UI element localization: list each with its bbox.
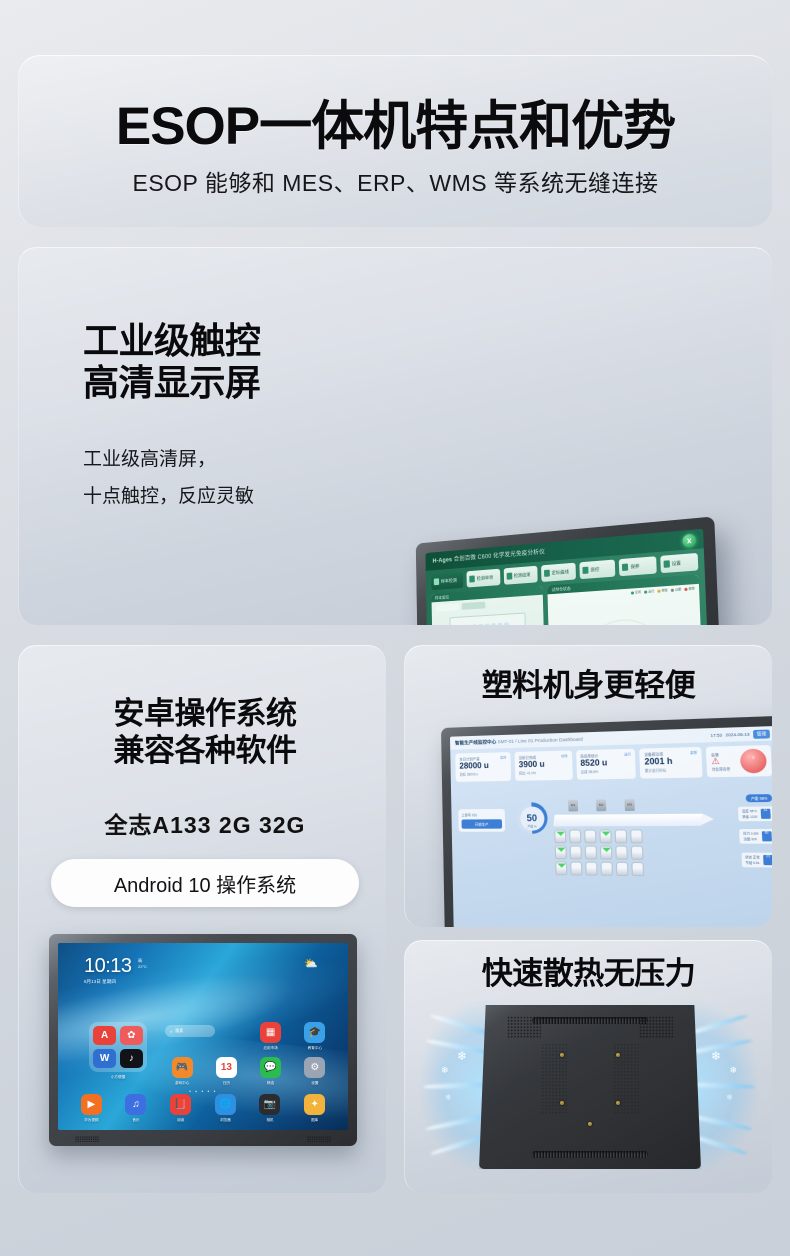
touchscreen-heading-line1: 工业级触控: [83, 320, 261, 362]
android-spec: 全志A133 2G 32G: [55, 806, 355, 840]
folder-app-icon[interactable]: ♪: [120, 1049, 143, 1068]
hmi-tab-6[interactable]: 设置: [660, 553, 698, 573]
hmi-reagent-panel: 试剂仓状态 空闲运行预警过期报警 三项检查 其它功能: [548, 575, 705, 625]
app-icon-appstore[interactable]: ▦ 应用市场: [251, 1022, 291, 1051]
test-tube: [478, 624, 483, 625]
kpi-card: 运行 良品率统计 8520 u 达成 98.6%: [576, 749, 637, 780]
vent-slot-bottom: [532, 1151, 647, 1158]
legend-swatch: [644, 590, 647, 593]
hmi-tab-5[interactable]: 保养: [619, 556, 656, 576]
tank-unit: [615, 829, 628, 843]
belt-box: M3: [624, 799, 634, 811]
lockscreen-clock: 10:13 晴 22°C 6月13日 星期四: [84, 956, 132, 985]
app-dock: ▶ 华为视频 ♫ 音乐 📕 阅读 🌐 浏览器 📷 相机: [71, 1094, 335, 1123]
vesa-screw: [616, 1101, 620, 1105]
tab-icon: [506, 573, 512, 580]
mes-title: 智能生产线监控中心: [455, 739, 496, 745]
test-tube: [491, 623, 496, 625]
alarm-bubble[interactable]: 3: [740, 748, 767, 773]
page-title: ESOP一体机特点和优势: [19, 84, 772, 160]
tab-icon: [663, 560, 669, 568]
kpi-tag: 运行: [624, 752, 631, 756]
app-glyph: 13: [216, 1057, 237, 1078]
hmi-tab-3[interactable]: 定标曲线: [541, 563, 576, 582]
tank-unit: [600, 862, 613, 876]
speaker-grille-right: [307, 1136, 331, 1142]
mes-time: 17:53: [710, 732, 722, 738]
mes-mini-panel: 压力 0.6M流量 320 B2: [740, 829, 772, 844]
hmi-app: H-Ages 合创百微 C600 化学发光免疫分析仪 x 样本检测 检测单项 检…: [425, 529, 712, 625]
mini-badge: A1: [761, 809, 771, 819]
app-glyph: ♫: [125, 1094, 146, 1115]
sample-tab-b[interactable]: [462, 602, 486, 610]
hmi-tab-4[interactable]: 质控: [579, 559, 615, 579]
tank-unit: [585, 845, 597, 859]
hmi-tab-label: 定标曲线: [551, 569, 568, 576]
tank-unit: [554, 829, 566, 843]
speaker-grille-left: [75, 1136, 99, 1142]
legend-swatch: [657, 589, 660, 592]
app-glyph: ⚙: [304, 1057, 325, 1078]
clock-time: 10:13: [84, 956, 132, 976]
page-subtitle: ESOP 能够和 MES、ERP、WMS 等系统无缝连接: [19, 164, 772, 198]
touchscreen-body-line1: 工业级高清屏，: [83, 441, 254, 478]
capacity-pill: 产能 98%: [746, 794, 772, 802]
app-label: 相机: [250, 1118, 291, 1123]
app-glyph: 🎓: [304, 1022, 325, 1043]
tank-unit: [570, 861, 582, 875]
hmi-sample-panel: 样本架位 S01: [431, 586, 547, 625]
mes-dashboard: 智能生产线监控中心 SMT-01 / Line 01 Production Da…: [450, 726, 772, 927]
tank-unit: [600, 846, 613, 860]
app-label: 畅连: [251, 1081, 291, 1086]
mes-order-panel: 工单号 001 开始生产: [458, 809, 505, 832]
start-production-button[interactable]: 开始生产: [462, 819, 503, 828]
touchscreen-body: 工业级高清屏， 十点触控，反应灵敏: [83, 441, 254, 515]
legend-item: 过期: [671, 587, 682, 592]
snowflake-icon: ❄: [457, 1049, 467, 1063]
sample-panel-tabs: [436, 602, 485, 612]
monitor-rear-panel: [479, 1005, 701, 1169]
android-heading: 安卓操作系统 兼容各种软件: [55, 696, 355, 769]
hmi-tab-label: 保养: [630, 563, 639, 570]
belt-box: M2: [596, 799, 606, 811]
legend-swatch: [631, 591, 634, 594]
mes-tablet-bezel: 智能生产线监控中心 SMT-01 / Line 01 Production Da…: [441, 716, 772, 927]
mini-line2: 转速 1200: [742, 814, 757, 819]
app-icon-education[interactable]: 🎓 教育中心: [295, 1022, 335, 1051]
tab-icon: [544, 570, 550, 577]
app-glyph: 🎮: [172, 1057, 193, 1078]
app-icon-gallery[interactable]: ✦ 图库: [294, 1094, 335, 1123]
tab-icon: [434, 578, 439, 585]
sample-panel-title: 样本架位: [435, 595, 449, 602]
mini-line2: 节拍 5.8s: [745, 860, 759, 865]
belt-box: M1: [568, 800, 578, 812]
tank-unit: [569, 829, 581, 843]
android-home-screen: 10:13 晴 22°C 6月13日 星期四 ⛅ A ✿ W ♪ 小方便捷 ⌕ …: [58, 943, 348, 1130]
legend-item: 空闲: [631, 590, 641, 595]
tank-unit: [584, 829, 596, 843]
kpi-sub: 同比 +6.0%: [519, 769, 568, 775]
hmi-logo-model: C600 化学发光免疫分析仪: [478, 549, 545, 560]
app-glyph: 📕: [170, 1094, 191, 1115]
snowflake-icon: ❄: [729, 1065, 737, 1076]
app-glyph: 💬: [260, 1057, 281, 1078]
clock-weather: 晴 22°C: [138, 958, 147, 970]
tab-icon: [583, 567, 589, 574]
app-icon-settings[interactable]: ⚙ 设置: [295, 1057, 335, 1086]
mes-subtitle: SMT-01 / Line 01 Production Dashboard: [498, 736, 583, 744]
android-version-badge: Android 10 操作系统: [51, 859, 359, 907]
hex-grille-left: [507, 1016, 541, 1038]
snowflake-icon: ❄: [441, 1065, 449, 1076]
alarm-sub: 待处理告警: [712, 766, 731, 772]
folder-app-icon[interactable]: ✿: [120, 1026, 143, 1045]
legend-swatch: [671, 588, 674, 591]
hmi-logo: H-Ages 合创百微 C600 化学发光免疫分析仪: [432, 547, 545, 565]
snowflake-icon: ❄: [726, 1093, 733, 1102]
app-icon-calendar[interactable]: 13 日历: [206, 1057, 246, 1086]
order-label: 工单号 001: [461, 812, 501, 817]
app-folder-grid: A ✿ W ♪: [89, 1022, 147, 1072]
snowflake-icon: ❄: [711, 1049, 721, 1063]
mes-mini-panel: 状态 正常节拍 5.8s C3: [741, 853, 772, 868]
kpi-sub: 达成 98.6%: [581, 768, 632, 774]
app-glyph: 📷: [259, 1094, 280, 1115]
mini-badge: B2: [762, 831, 772, 841]
tab-icon: [622, 563, 628, 571]
android-heading-line1: 安卓操作系统: [55, 696, 355, 733]
app-icon-browser[interactable]: 🌐 浏览器: [205, 1094, 246, 1123]
legend-item: 运行: [644, 589, 654, 594]
app-label: 教育中心: [295, 1046, 335, 1051]
tank-unit: [599, 829, 612, 843]
kpi-sub: 累计运行时长: [645, 766, 698, 773]
app-icon-games[interactable]: 🎮 游戏中心: [162, 1057, 202, 1086]
legend-label: 过期: [675, 587, 681, 592]
legend-label: 预警: [661, 588, 667, 593]
gauge-label: 产能 %: [527, 824, 536, 828]
app-glyph: ✦: [304, 1094, 325, 1115]
touchscreen-heading-line2: 高清显示屏: [83, 362, 261, 404]
close-icon[interactable]: x: [682, 533, 696, 547]
legend-label: 空闲: [635, 590, 641, 594]
hmi-logo-brand: H-Ages: [433, 557, 453, 564]
machine-tank-grid: [554, 829, 641, 876]
vesa-screw-center: [588, 1122, 592, 1126]
app-glyph: 🌐: [215, 1094, 236, 1115]
tank-unit: [631, 846, 644, 860]
rear-panel-illustration: ❄ ❄ ❄ ❄ ❄ ❄: [423, 997, 755, 1177]
touchscreen-body-line2: 十点触控，反应灵敏: [83, 478, 254, 515]
legend-item: 预警: [657, 588, 667, 593]
tank-unit: [555, 861, 567, 875]
mes-mini-panel: 温度 38°C转速 1200 A1: [738, 806, 772, 821]
app-icon-video[interactable]: ▶ 华为视频: [71, 1094, 112, 1123]
feature-card-android: 安卓操作系统 兼容各种软件 全志A133 2G 32G Android 10 操…: [18, 645, 386, 1193]
vent-slot-top: [532, 1017, 647, 1024]
touchscreen-heading: 工业级触控 高清显示屏: [83, 320, 261, 404]
legend-label: 运行: [648, 589, 654, 593]
capacity-gauge: 50 产能 %: [516, 802, 548, 834]
legend-swatch: [684, 587, 687, 590]
mes-user-badge[interactable]: 管理: [753, 729, 770, 738]
app-icon-camera[interactable]: 📷 相机: [250, 1094, 291, 1123]
legend-item: 报警: [684, 586, 695, 591]
hmi-tab-label: 样本检测: [441, 577, 457, 584]
app-folder-label: 小方便捷: [89, 1075, 147, 1080]
app-label: 游戏中心: [162, 1081, 202, 1086]
snowflake-icon: ❄: [445, 1093, 452, 1102]
test-tube-rack: S01: [449, 613, 526, 625]
test-tube: [504, 622, 509, 625]
app-icon-messaging[interactable]: 💬 畅连: [251, 1057, 291, 1086]
capacity-pill-label: 产能 98%: [746, 794, 772, 802]
mini-line2: 流量 320: [743, 836, 756, 841]
android-heading-line2: 兼容各种软件: [55, 733, 355, 770]
kpi-card: 在线 当前已完成 3900 u 同比 +6.0%: [514, 750, 572, 780]
vesa-screw: [560, 1053, 564, 1057]
feature-card-touchscreen: 工业级触控 高清显示屏 工业级高清屏， 十点触控，反应灵敏 H-Ages 合创百…: [18, 247, 772, 625]
vesa-screw: [616, 1053, 620, 1057]
vesa-screw: [560, 1101, 564, 1105]
kpi-tag: 在线: [561, 754, 567, 758]
kpi-tag: 监控: [690, 750, 697, 755]
hmi-tab-0[interactable]: 样本检测: [431, 572, 463, 591]
conveyor-belt: [553, 814, 703, 827]
kpi-card-alarm: 告警 ⚠ 待处理告警 3: [706, 745, 772, 777]
reagent-panel-title: 试剂仓状态: [551, 586, 570, 593]
app-label: 阅读: [160, 1118, 201, 1123]
plastic-heading: 塑料机身更轻便: [405, 668, 772, 705]
app-grid-top: ▦ 应用市场 🎓 教育中心 🎮 游戏中心 13 日历 💬 畅连: [162, 1022, 335, 1086]
kpi-card: 实时 本日计划产量 28000 u 目标 28000 u: [455, 752, 511, 782]
header-card: ESOP一体机特点和优势 ESOP 能够和 MES、ERP、WMS 等系统无缝连…: [18, 55, 772, 227]
clock-date: 6月13日 星期四: [84, 979, 132, 985]
test-tube: [497, 623, 502, 625]
hmi-logo-cn: 合创百微: [454, 555, 476, 563]
gauge-value: 50: [526, 813, 537, 824]
folder-app-icon[interactable]: A: [93, 1026, 116, 1045]
reagent-carousel[interactable]: [581, 617, 669, 625]
test-tube: [484, 624, 489, 625]
app-label: 音乐: [116, 1118, 157, 1123]
tank-unit: [630, 829, 643, 843]
feature-card-cooling: 快速散热无压力 ❄ ❄ ❄ ❄ ❄ ❄: [404, 940, 772, 1193]
hmi-tab-label: 检测单项: [477, 575, 493, 582]
app-label: 应用市场: [251, 1046, 291, 1051]
kpi-tag: 实时: [500, 755, 506, 759]
tank-unit: [631, 862, 644, 876]
app-icon-reader[interactable]: 📕 阅读: [160, 1094, 201, 1123]
tank-unit: [585, 862, 597, 876]
mes-date: 2024-06-13: [725, 731, 749, 737]
hex-grille-right: [639, 1016, 673, 1038]
app-label: 华为视频: [71, 1118, 112, 1123]
android-tablet: 10:13 晴 22°C 6月13日 星期四 ⛅ A ✿ W ♪ 小方便捷 ⌕ …: [49, 934, 357, 1146]
kpi-sub: 目标 28000 u: [460, 770, 507, 776]
app-label: 图库: [294, 1118, 335, 1123]
hmi-tab-label: 质控: [590, 566, 599, 573]
monitor-bezel: H-Ages 合创百微 C600 化学发光免疫分析仪 x 样本检测 检测单项 检…: [416, 516, 726, 625]
app-label: 日历: [206, 1081, 246, 1086]
app-label: 设置: [295, 1081, 335, 1086]
kpi-card: 监控 设备稼动率 2001 h 累计运行时长: [640, 747, 703, 779]
mes-kpi-row: 实时 本日计划产量 28000 u 目标 28000 u 在线 当前已完成 39…: [455, 745, 772, 782]
app-label: 浏览器: [205, 1118, 246, 1123]
cooling-heading: 快速散热无压力: [405, 956, 772, 993]
tank-unit: [615, 846, 628, 860]
hmi-tab-label: 设置: [671, 560, 681, 567]
mini-badge: C3: [763, 855, 772, 865]
app-icon-music[interactable]: ♫ 音乐: [116, 1094, 157, 1123]
hmi-tab-1[interactable]: 检测单项: [467, 569, 500, 588]
industrial-monitor-green: H-Ages 合创百微 C600 化学发光免疫分析仪 x 样本检测 检测单项 检…: [416, 516, 726, 625]
mes-tablet: 智能生产线监控中心 SMT-01 / Line 01 Production Da…: [441, 716, 772, 927]
tank-unit: [555, 845, 567, 859]
app-glyph: ▶: [81, 1094, 102, 1115]
legend-label: 报警: [688, 586, 694, 591]
test-tube: [472, 624, 477, 625]
tab-icon: [470, 575, 476, 582]
alarm-icon: ⚠: [711, 757, 730, 766]
hmi-tab-2[interactable]: 检测结果: [503, 566, 537, 585]
tank-unit: [570, 845, 582, 859]
monitor-screen: H-Ages 合创百微 C600 化学发光免疫分析仪 x 样本检测 检测单项 检…: [425, 529, 712, 625]
app-folder[interactable]: A ✿ W ♪ 小方便捷: [89, 1022, 147, 1080]
app-glyph: ▦: [260, 1022, 281, 1043]
sample-tab-a[interactable]: [436, 603, 459, 611]
weather-icon: ⛅: [304, 957, 318, 970]
folder-app-icon[interactable]: W: [93, 1049, 116, 1068]
feature-card-plastic: 塑料机身更轻便 智能生产线监控中心 SMT-01 / Line 01 Produ…: [404, 645, 772, 927]
tank-unit: [616, 862, 629, 876]
hmi-tab-label: 检测结果: [514, 572, 531, 579]
